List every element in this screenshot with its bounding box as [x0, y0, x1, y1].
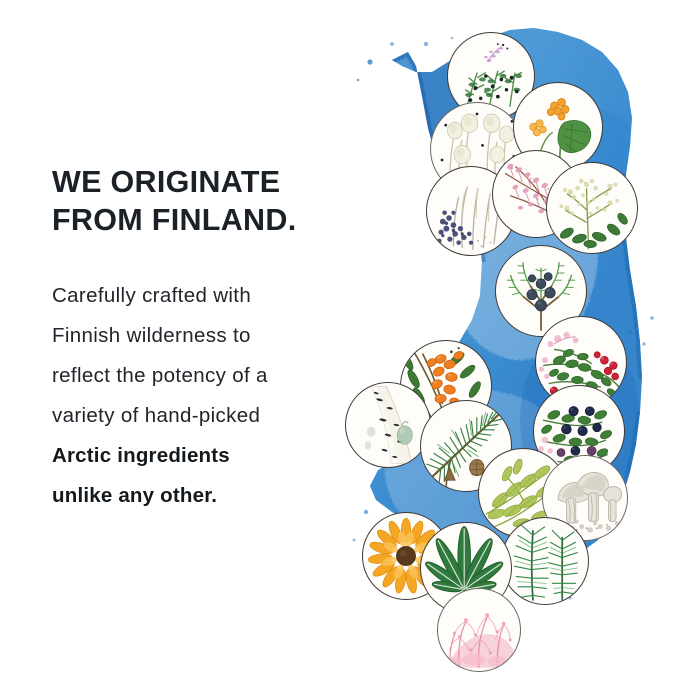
- medallion-birch-bark: [345, 382, 431, 468]
- body-line-6: unlike any other.: [52, 476, 352, 516]
- medallion-pink-algae: [437, 588, 521, 672]
- body-line-3: reflect the potency of a: [52, 356, 352, 396]
- medallion-meadowsweet: [546, 162, 638, 254]
- body-copy: Carefully crafted with Finnish wildernes…: [52, 276, 352, 516]
- body-line-2: Finnish wilderness to: [52, 316, 352, 356]
- finland-artwork: [330, 0, 679, 679]
- body-line-5: Arctic ingredients: [52, 436, 352, 476]
- body-line-1: Carefully crafted with: [52, 276, 352, 316]
- page-title: WE ORIGINATE FROM FINLAND.: [52, 163, 352, 240]
- poster-canvas: WE ORIGINATE FROM FINLAND. Carefully cra…: [0, 0, 679, 679]
- body-line-4: variety of hand-picked: [52, 396, 352, 436]
- headline-line-2: FROM FINLAND.: [52, 201, 352, 239]
- brand-statement: WE ORIGINATE FROM FINLAND. Carefully cra…: [52, 163, 352, 516]
- headline-line-1: WE ORIGINATE: [52, 165, 280, 199]
